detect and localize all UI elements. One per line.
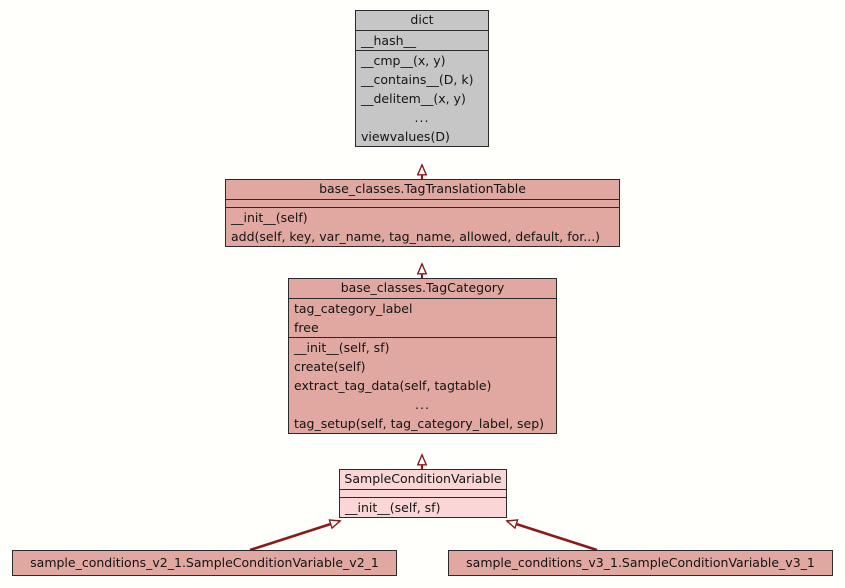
class-method: __init__(self, sf): [340, 498, 506, 517]
class-diagram-canvas: dict __hash__ __cmp__(x, y) __contains__…: [0, 0, 845, 588]
class-node-tagcategory[interactable]: base_classes.TagCategory tag_category_la…: [288, 278, 557, 434]
class-node-title-compartment: SampleConditionVariable: [340, 470, 506, 489]
class-name-sampleconditionvariable-v2-1: sample_conditions_v2_1.SampleConditionVa…: [13, 551, 396, 575]
class-attribute: __hash__: [356, 31, 488, 50]
class-method: viewvalues(D): [356, 127, 488, 146]
class-node-title-compartment: sample_conditions_v2_1.SampleConditionVa…: [13, 551, 396, 575]
class-node-title-compartment: base_classes.TagTranslationTable: [226, 180, 619, 199]
class-node-dict[interactable]: dict __hash__ __cmp__(x, y) __contains__…: [355, 10, 489, 147]
class-method: __delitem__(x, y): [356, 89, 488, 108]
edge-v2-to-sampleconditionvariable: [250, 521, 340, 550]
class-node-methods-compartment: __cmp__(x, y) __contains__(D, k) __delit…: [356, 50, 488, 146]
class-method-ellipsis: ...: [289, 395, 556, 414]
class-node-methods-compartment: __init__(self) add(self, key, var_name, …: [226, 207, 619, 246]
class-node-sampleconditionvariable[interactable]: SampleConditionVariable __init__(self, s…: [339, 469, 507, 518]
class-attribute: free: [289, 318, 556, 337]
class-method: __cmp__(x, y): [356, 51, 488, 70]
class-method: add(self, key, var_name, tag_name, allow…: [226, 227, 619, 246]
class-method: create(self): [289, 357, 556, 376]
class-method: __contains__(D, k): [356, 70, 488, 89]
edge-v3-to-sampleconditionvariable: [507, 521, 597, 550]
class-node-title-compartment: base_classes.TagCategory: [289, 279, 556, 298]
class-node-tagtranslationtable[interactable]: base_classes.TagTranslationTable __init_…: [225, 179, 620, 247]
class-node-title-compartment: sample_conditions_v3_1.SampleConditionVa…: [449, 551, 832, 575]
class-node-title-compartment: dict: [356, 11, 488, 30]
class-node-sampleconditionvariable-v2-1[interactable]: sample_conditions_v2_1.SampleConditionVa…: [12, 550, 397, 576]
class-name-sampleconditionvariable-v3-1: sample_conditions_v3_1.SampleConditionVa…: [449, 551, 832, 575]
class-method: __init__(self): [226, 208, 619, 227]
class-method: tag_setup(self, tag_category_label, sep): [289, 414, 556, 433]
class-name-sampleconditionvariable: SampleConditionVariable: [340, 470, 506, 489]
class-attribute: tag_category_label: [289, 299, 556, 318]
class-name-tagcategory: base_classes.TagCategory: [289, 279, 556, 298]
class-node-methods-compartment: __init__(self, sf): [340, 497, 506, 517]
class-node-attributes-compartment: __hash__: [356, 30, 488, 50]
class-node-methods-compartment: __init__(self, sf) create(self) extract_…: [289, 337, 556, 433]
class-name-dict: dict: [356, 11, 488, 30]
class-node-attributes-compartment: [226, 199, 619, 207]
class-name-tagtranslationtable: base_classes.TagTranslationTable: [226, 180, 619, 199]
class-node-attributes-compartment: tag_category_label free: [289, 298, 556, 337]
class-method: __init__(self, sf): [289, 338, 556, 357]
class-method-ellipsis: ...: [356, 108, 488, 127]
class-method: extract_tag_data(self, tagtable): [289, 376, 556, 395]
class-node-sampleconditionvariable-v3-1[interactable]: sample_conditions_v3_1.SampleConditionVa…: [448, 550, 833, 576]
class-node-attributes-compartment: [340, 489, 506, 497]
